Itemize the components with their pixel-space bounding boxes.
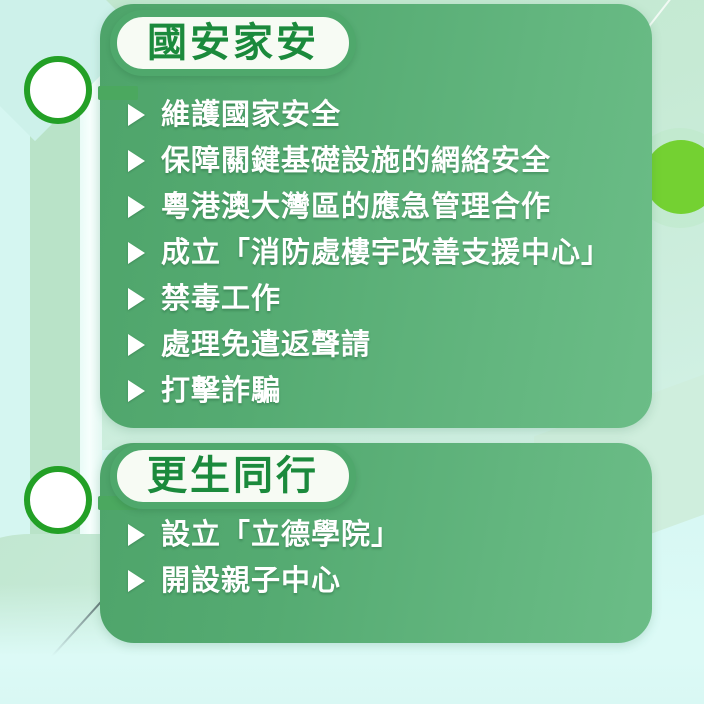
list-item-label: 設立「立德學院」	[161, 519, 401, 551]
triangle-bullet-icon	[128, 380, 145, 402]
section-title-text: 國安家安	[147, 23, 319, 63]
list-item-label: 處理免遣返聲請	[161, 329, 371, 361]
list-item: 開設親子中心	[122, 558, 686, 604]
bullet-list-national-security: 維護國家安全 保障關鍵基礎設施的網絡安全 粵港澳大灣區的應急管理合作 成立「消防…	[122, 92, 686, 414]
list-item: 禁毒工作	[122, 276, 686, 322]
triangle-bullet-icon	[128, 242, 145, 264]
bullet-list-rehabilitation: 設立「立德學院」 開設親子中心	[122, 512, 686, 604]
list-item-label: 粵港澳大灣區的應急管理合作	[161, 191, 551, 223]
list-item: 成立「消防處樓宇改善支援中心」	[122, 230, 686, 276]
list-item: 處理免遣返聲請	[122, 322, 686, 368]
list-item-label: 打擊詐騙	[161, 375, 281, 407]
section-title-pill-rehabilitation: 更生同行	[110, 443, 356, 509]
list-item: 設立「立德學院」	[122, 512, 686, 558]
triangle-bullet-icon	[128, 104, 145, 126]
triangle-bullet-icon	[128, 524, 145, 546]
triangle-bullet-icon	[128, 334, 145, 356]
list-item-label: 維護國家安全	[161, 99, 341, 131]
list-item: 維護國家安全	[122, 92, 686, 138]
list-item: 打擊詐騙	[122, 368, 686, 414]
triangle-bullet-icon	[128, 288, 145, 310]
list-item-label: 開設親子中心	[161, 565, 341, 597]
list-item-label: 禁毒工作	[161, 283, 281, 315]
circle-node-icon	[24, 466, 92, 534]
list-item-label: 保障關鍵基礎設施的網絡安全	[161, 145, 551, 177]
list-item: 保障關鍵基礎設施的網絡安全	[122, 138, 686, 184]
circle-node-icon	[24, 56, 92, 124]
list-item: 粵港澳大灣區的應急管理合作	[122, 184, 686, 230]
infographic-canvas: 國安家安 維護國家安全 保障關鍵基礎設施的網絡安全 粵港澳大灣區的應急管理合作 …	[0, 0, 704, 704]
list-item-label: 成立「消防處樓宇改善支援中心」	[161, 237, 611, 269]
section-title-text: 更生同行	[147, 456, 319, 496]
section-title-pill-national-security: 國安家安	[110, 10, 356, 76]
triangle-bullet-icon	[128, 196, 145, 218]
triangle-bullet-icon	[128, 570, 145, 592]
triangle-bullet-icon	[128, 150, 145, 172]
